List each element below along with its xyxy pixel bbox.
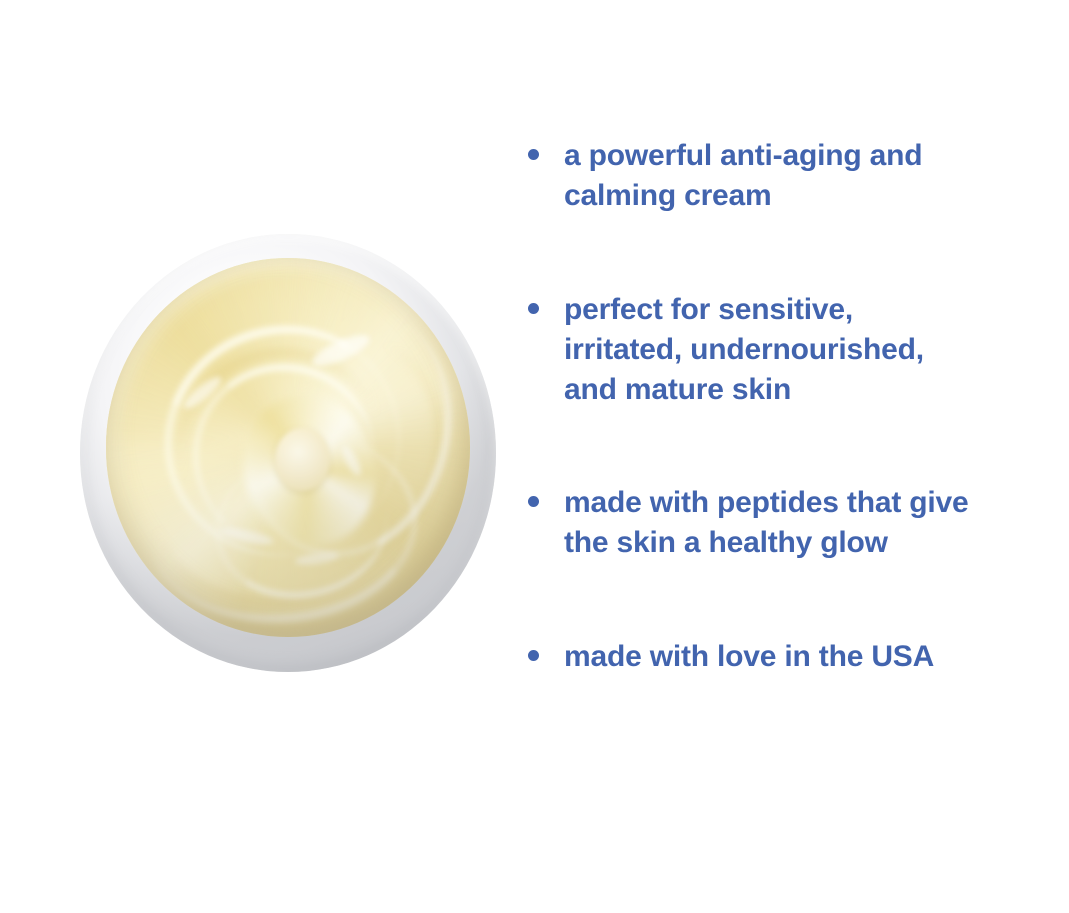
cream-gloss-5 <box>295 550 340 567</box>
cream-swirl-layer-outer <box>106 258 470 637</box>
bullet-dot-icon <box>528 303 539 314</box>
feature-text: made with love in the USA <box>564 637 1058 677</box>
cream-fold-shadow-2 <box>151 416 404 615</box>
feature-text: made with peptides that give the skin a … <box>564 483 1058 563</box>
bullet-dot-icon <box>528 149 539 160</box>
feature-list: a powerful anti-aging and calming cream … <box>528 136 1058 677</box>
cream-ridge-4 <box>218 286 470 583</box>
cream-gloss-3 <box>339 443 364 477</box>
cream-ridge-5 <box>202 438 401 614</box>
bullet-dot-icon <box>528 496 539 507</box>
cream-edge-shading <box>106 258 470 637</box>
cream-ridge-2 <box>182 352 386 557</box>
cream-swirl <box>106 258 470 637</box>
feature-item: made with love in the USA <box>528 637 1058 677</box>
cream-gloss-4 <box>218 525 274 548</box>
cream-spiral-center <box>226 379 394 561</box>
product-feature-panel: a powerful anti-aging and calming cream … <box>0 0 1069 913</box>
feature-text: a powerful anti-aging and calming cream <box>564 136 1058 216</box>
cream-fold-shadow-1 <box>152 322 409 580</box>
cream-jar <box>80 234 496 672</box>
feature-item: made with peptides that give the skin a … <box>528 483 1058 563</box>
feature-item: a powerful anti-aging and calming cream <box>528 136 1058 216</box>
cream-spiral-peak <box>275 428 330 491</box>
cream-gloss-2 <box>180 373 225 413</box>
cream-ridge-1 <box>130 290 435 591</box>
cream-gloss-1 <box>309 329 373 371</box>
feature-item: perfect for sensitive, irritated, undern… <box>528 290 1058 410</box>
feature-text: perfect for sensitive, irritated, undern… <box>564 290 1058 410</box>
bullet-dot-icon <box>528 650 539 661</box>
product-image <box>80 234 496 672</box>
cream-swirl-layer-inner <box>106 258 470 637</box>
cream-ridge-3 <box>140 418 427 636</box>
cream-fold-shadow-3 <box>242 323 465 578</box>
